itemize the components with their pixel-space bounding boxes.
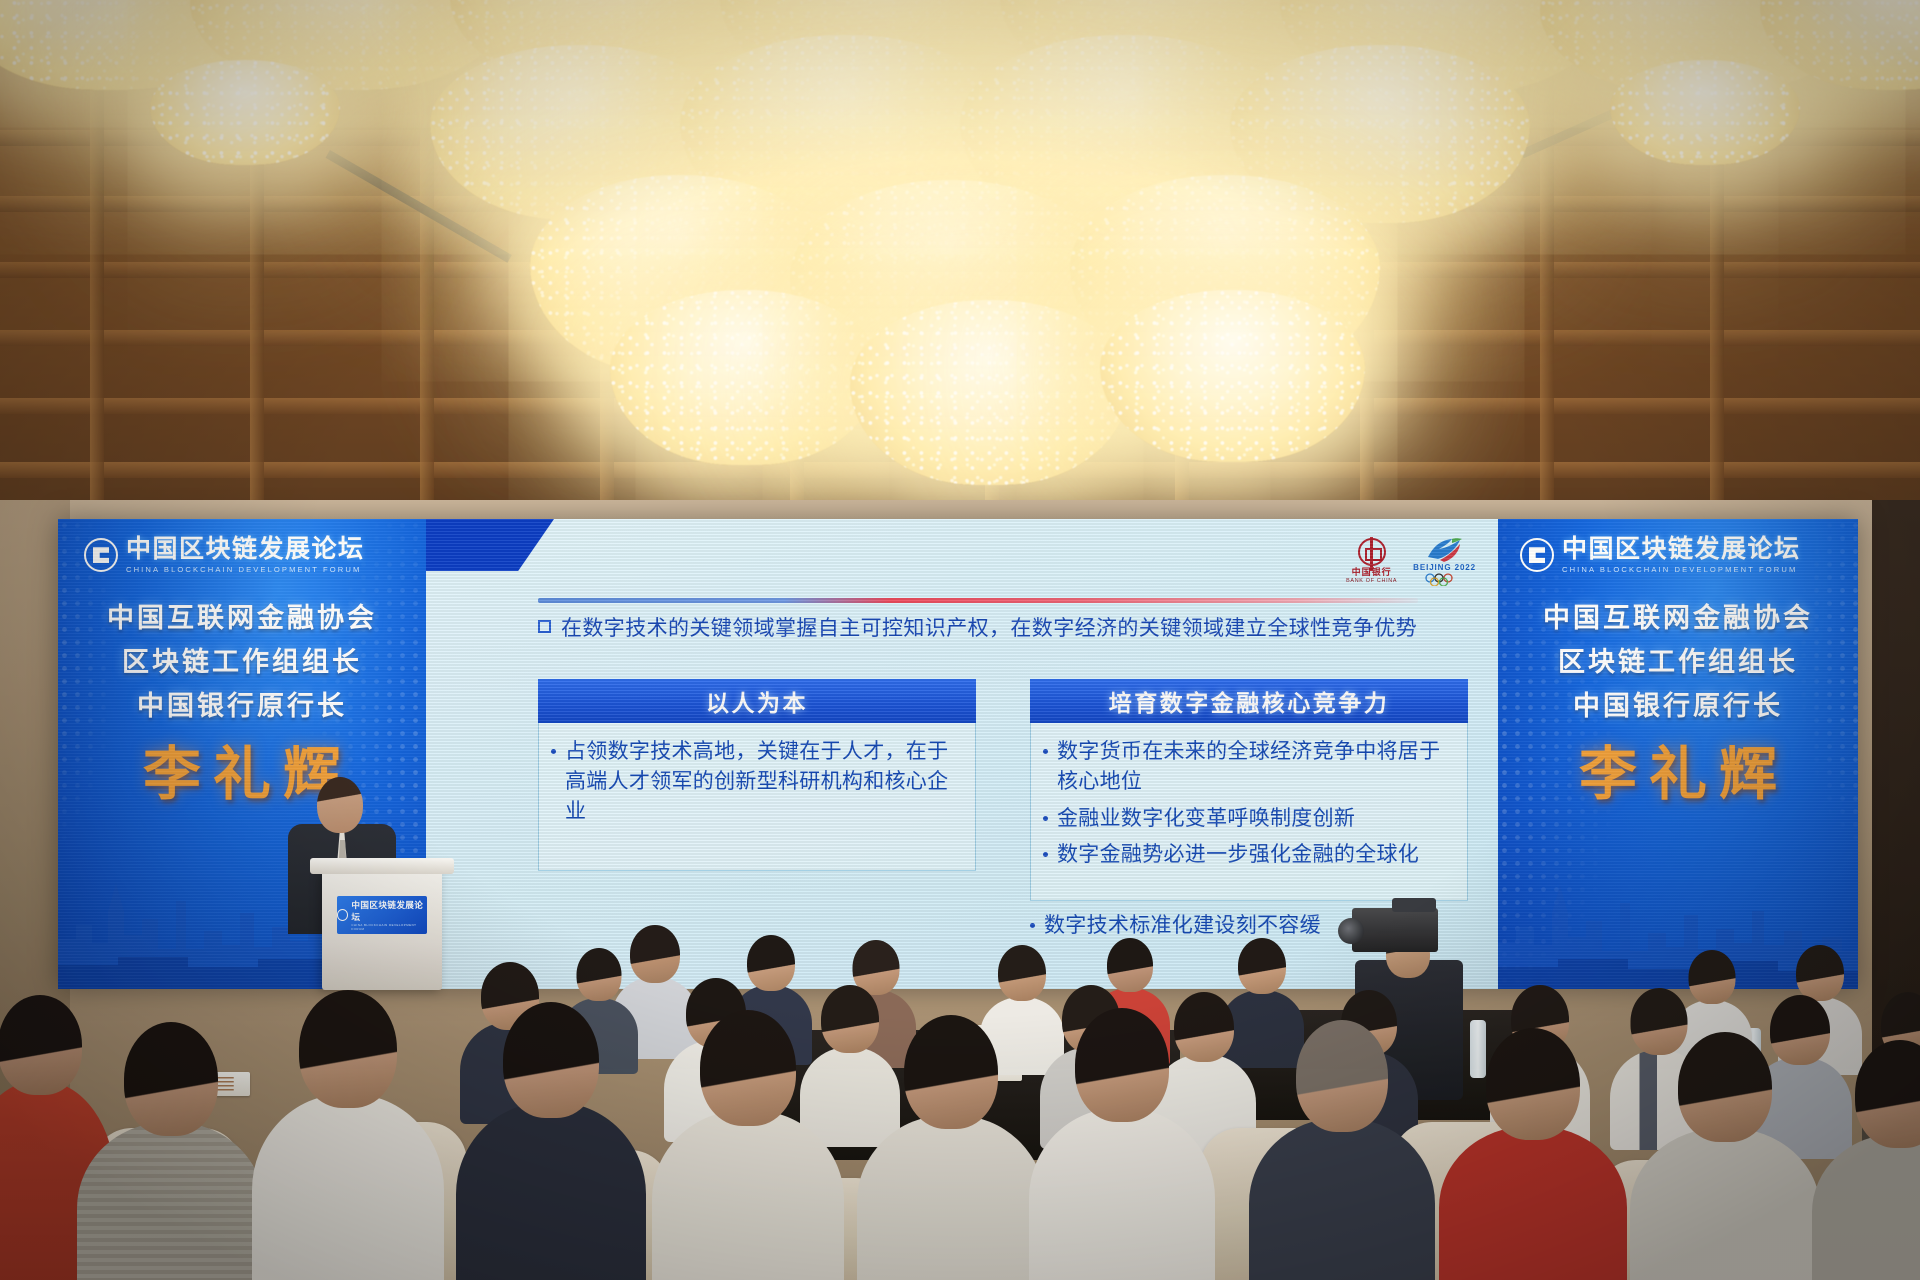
list-item: 占领数字技术高地，关键在于人才，在于高端人才领军的创新型科研机构和核心企业 [551,737,961,826]
dot-bullet-icon [1030,923,1035,928]
banner-left-title-line-1: 中国互联网金融协会 [58,597,426,641]
dot-bullet-icon [551,749,556,754]
podium-logo-plate: 中国区块链发展论坛 CHINA BLOCKCHAIN DEVELOPMENT F… [337,896,427,934]
audience-member [96,1022,246,1280]
podium-top-surface [310,858,454,874]
dot-bullet-icon [1043,852,1048,857]
list-item: 数字货币在未来的全球经济竞争中将居于核心地位 [1043,737,1453,797]
audience-member [876,1015,1026,1280]
card-heading-left: 以人为本 [538,679,976,723]
card-left-bullet-1: 占领数字技术高地，关键在于人才，在于高端人才领军的创新型科研机构和核心企业 [565,737,961,826]
card-right-bullet-2: 金融业数字化变革呼唤制度创新 [1057,804,1355,834]
slide-card-people-first: 以人为本 占领数字技术高地，关键在于人才，在于高端人才领军的创新型科研机构和核心… [538,679,976,901]
forum-logo-en-text: CHINA BLOCKCHAIN DEVELOPMENT FORUM [1562,566,1801,574]
audience-member [1048,1008,1196,1280]
banner-right: 中国区块链发展论坛 CHINA BLOCKCHAIN DEVELOPMENT F… [1498,519,1858,989]
slide-card-digital-finance: 培育数字金融核心竞争力 数字货币在未来的全球经济竞争中将居于核心地位 金融业数字… [1030,679,1468,901]
presentation-slide: 中国银行 BANK OF CHINA BEIJING 2022 [426,519,1498,989]
banner-left-title-line-3: 中国银行原行长 [58,685,426,729]
blockchain-forum-logo-icon [337,909,348,921]
audience-member [272,990,424,1280]
square-bullet-icon [538,620,551,633]
slide-sponsor-logos: 中国银行 BANK OF CHINA BEIJING 2022 [1346,537,1476,586]
slide-divider-rule [538,598,1418,603]
card-right-bullet-3: 数字金融势必进一步强化金融的全球化 [1057,840,1419,870]
slide-corner-wedge [426,519,554,571]
beijing-2022-olympic-logo-icon: BEIJING 2022 [1413,537,1476,586]
speaker-podium: 中国区块链发展论坛 CHINA BLOCKCHAIN DEVELOPMENT F… [322,870,442,990]
card-body-left: 占领数字技术高地，关键在于人才，在于高端人才领军的创新型科研机构和核心企业 [538,723,976,871]
banner-right-title-line-2: 区块链工作组组长 [1498,641,1858,685]
overflow-bullet-text: 数字技术标准化建设刻不容缓 [1044,911,1321,941]
ceiling-woodwork [0,0,1920,540]
bank-of-china-logo-icon: 中国银行 BANK OF CHINA [1346,538,1397,584]
blockchain-forum-logo-icon [84,538,118,572]
podium-plate-en-text: CHINA BLOCKCHAIN DEVELOPMENT FORUM [351,923,427,931]
card-body-right: 数字货币在未来的全球经济竞争中将居于核心地位 金融业数字化变革呼唤制度创新 数字… [1030,723,1468,901]
speaker-head [317,777,363,833]
forum-logo-right: 中国区块链发展论坛 CHINA BLOCKCHAIN DEVELOPMENT F… [1520,537,1801,574]
podium-plate-cn-text: 中国区块链发展论坛 [351,899,427,923]
camera-lens-icon [1338,918,1364,944]
list-item: 金融业数字化变革呼唤制度创新 [1043,804,1453,834]
blockchain-forum-logo-icon [1520,538,1554,572]
forum-logo-cn-text: 中国区块链发展论坛 [126,537,365,562]
slide-headline-text: 在数字技术的关键领域掌握自主可控知识产权，在数字经济的关键领域建立全球性竞争优势 [561,614,1417,642]
banner-right-speaker-name: 李礼辉 [1498,745,1858,803]
slide-headline-row: 在数字技术的关键领域掌握自主可控知识产权，在数字经济的关键领域建立全球性竞争优势 [538,614,1468,642]
slide-card-group: 以人为本 占领数字技术高地，关键在于人才，在于高端人才领军的创新型科研机构和核心… [538,679,1468,901]
banner-left-speaker-name: 李礼辉 [58,745,426,803]
forum-logo-left: 中国区块链发展论坛 CHINA BLOCKCHAIN DEVELOPMENT F… [84,537,365,574]
card-right-bullet-1: 数字货币在未来的全球经济竞争中将居于核心地位 [1057,737,1453,797]
banner-right-title-line-1: 中国互联网金融协会 [1498,597,1858,641]
boc-logo-en-text: BANK OF CHINA [1346,579,1397,584]
olympic-winter-glyph-icon [1422,537,1468,563]
olympic-rings-icon [1422,573,1468,586]
dot-bullet-icon [1043,749,1048,754]
card-heading-right: 培育数字金融核心竞争力 [1030,679,1468,723]
banner-right-title-line-3: 中国银行原行长 [1498,685,1858,729]
forum-logo-cn-text: 中国区块链发展论坛 [1562,537,1801,562]
audience-member [672,1010,824,1280]
audience-member [1830,1040,1920,1280]
forum-logo-en-text: CHINA BLOCKCHAIN DEVELOPMENT FORUM [126,566,365,574]
list-item: 数字金融势必进一步强化金融的全球化 [1043,840,1453,870]
audience-member [1268,1020,1416,1280]
dot-bullet-icon [1043,816,1048,821]
conference-photo-scene: 中国区块链发展论坛 CHINA BLOCKCHAIN DEVELOPMENT F… [0,0,1920,1280]
audience-member [476,1002,626,1280]
audience-member [1458,1028,1608,1280]
video-camera [1352,908,1438,952]
audience-member [1650,1032,1800,1280]
banner-left-title-line-2: 区块链工作组组长 [58,641,426,685]
olympic-logo-text: BEIJING 2022 [1413,564,1476,572]
camera-hood [1392,898,1436,912]
